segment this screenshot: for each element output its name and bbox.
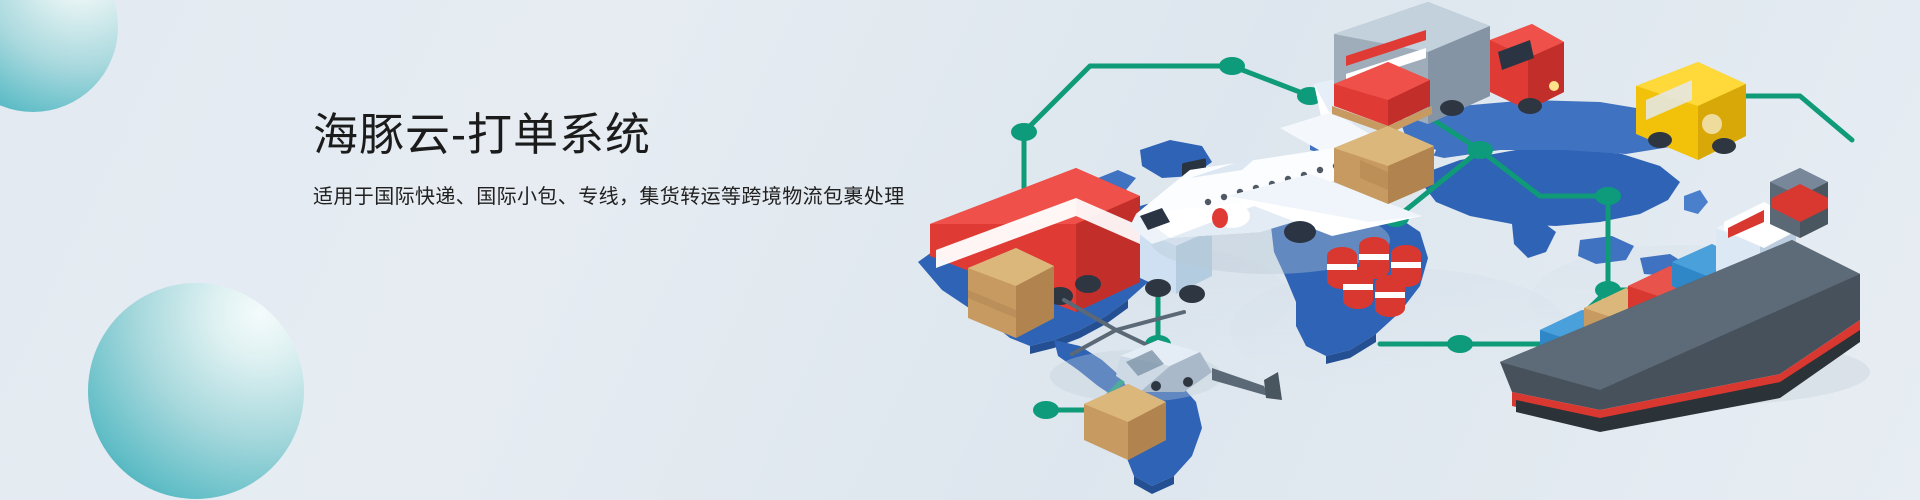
decorative-sphere-top-left — [0, 0, 118, 112]
yellow-van — [1636, 62, 1746, 160]
isometric-global-logistics-map — [840, 0, 1920, 500]
hero-banner: 海豚云-打单系统 适用于国际快递、国际小包、专线，集货转运等跨境物流包裹处理 — [0, 0, 1920, 500]
banner-subheadline: 适用于国际快递、国际小包、专线，集货转运等跨境物流包裹处理 — [313, 183, 905, 211]
banner-headline: 海豚云-打单系统 — [313, 108, 905, 161]
decorative-sphere-bottom-left — [88, 283, 304, 499]
banner-text-block: 海豚云-打单系统 适用于国际快递、国际小包、专线，集货转运等跨境物流包裹处理 — [313, 108, 905, 211]
